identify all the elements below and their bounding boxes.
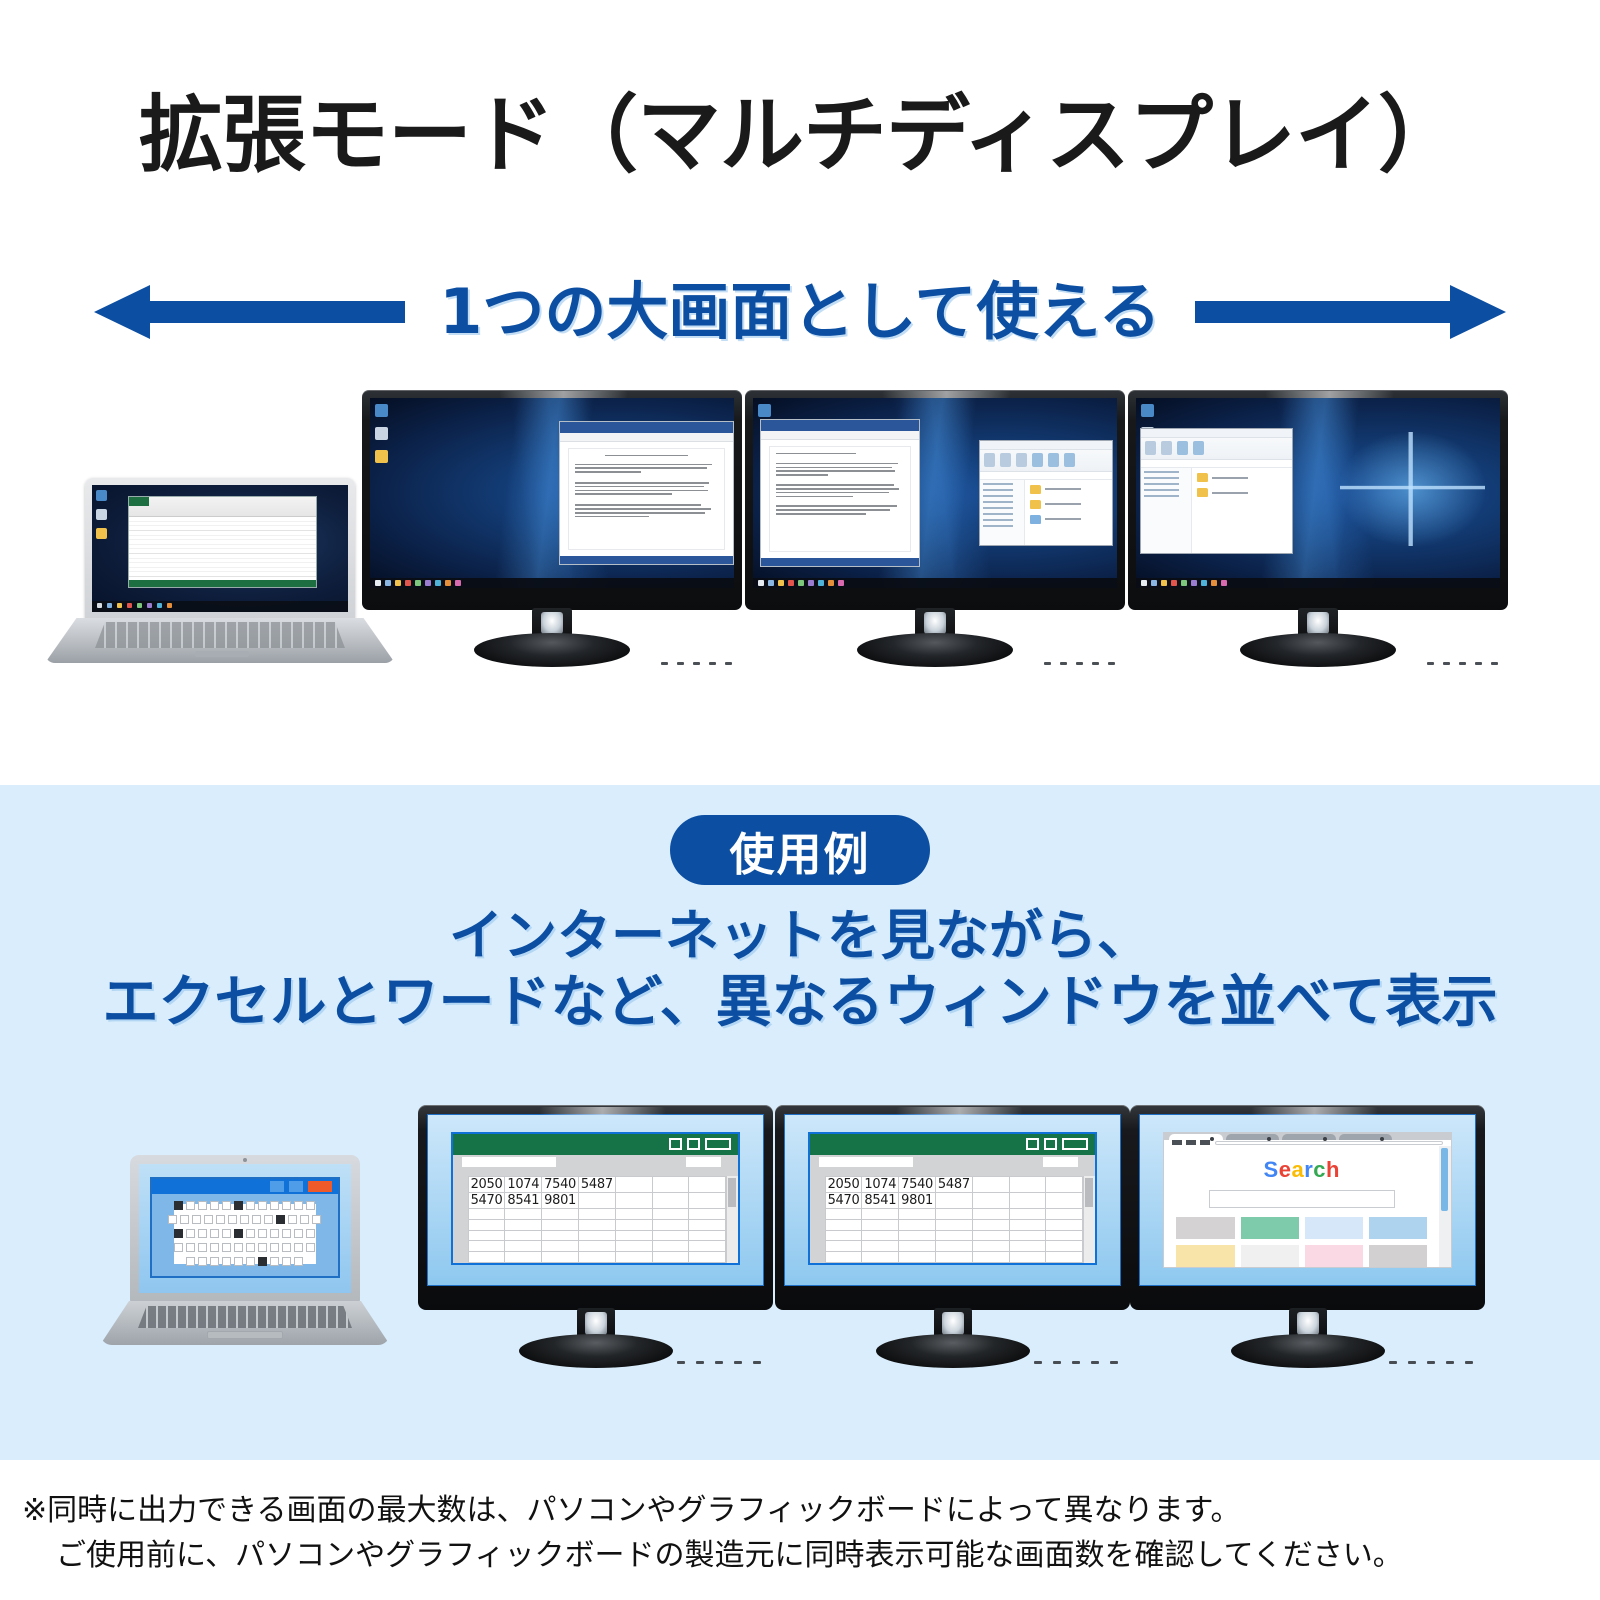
word-ribbon-tabs	[560, 433, 733, 442]
table-cell[interactable]	[578, 1209, 615, 1220]
spreadsheet-toolbar	[453, 1155, 737, 1177]
monitor-stand-base	[876, 1334, 1030, 1368]
spreadsheet-grid-wrap: 2050107475405487547085419801	[453, 1176, 737, 1262]
row-headers	[810, 1176, 824, 1262]
table-cell[interactable]	[972, 1209, 1009, 1220]
usage-line-2: エクセルとワードなど、異なるウィンドウを並べて表示	[0, 969, 1600, 1037]
monitor-1-word	[362, 390, 742, 670]
table-cell[interactable]	[825, 1241, 862, 1252]
table-cell[interactable]: 8541	[862, 1193, 899, 1209]
search-page: Search	[1164, 1146, 1439, 1267]
table-cell[interactable]	[825, 1209, 862, 1220]
monitor-control-buttons[interactable]	[1389, 1361, 1473, 1364]
laptop-base	[45, 618, 395, 663]
monitor-3-screen	[1136, 398, 1500, 588]
table-cell[interactable]	[935, 1209, 972, 1220]
toolbar-field[interactable]	[686, 1157, 720, 1167]
laptop-base	[100, 1301, 390, 1345]
footnote-line-1: ※同時に出力できる画面の最大数は、パソコンやグラフィックボードによって異なります…	[22, 1488, 1578, 1533]
table-body: 2050107475405487547085419801	[468, 1177, 726, 1262]
spreadsheet-window: 2050107475405487547085419801	[451, 1132, 739, 1265]
monitor-control-buttons[interactable]	[1427, 662, 1498, 665]
table-cell[interactable]: 5487	[578, 1177, 615, 1193]
table-cell[interactable]	[899, 1230, 936, 1241]
toolbar-field[interactable]	[1043, 1157, 1077, 1167]
table-row[interactable]	[468, 1251, 726, 1262]
spreadsheet-toolbar	[810, 1155, 1094, 1177]
table-cell[interactable]	[468, 1209, 505, 1220]
spreadsheet-titlebar	[453, 1134, 737, 1155]
thumbnail-tile[interactable]	[1241, 1245, 1299, 1267]
realistic-device-row	[0, 390, 1600, 690]
table-cell[interactable]	[899, 1220, 936, 1231]
table-row[interactable]	[468, 1220, 726, 1231]
window-titlebar	[152, 1179, 339, 1194]
table-cell[interactable]	[862, 1251, 899, 1262]
word-titlebar	[560, 422, 733, 433]
table-cell[interactable]	[1009, 1209, 1046, 1220]
monitor-3-bezel	[1128, 390, 1508, 610]
maximize-icon[interactable]	[687, 1138, 700, 1150]
search-logo-letter: r	[1304, 1157, 1313, 1182]
table-cell[interactable]	[899, 1251, 936, 1262]
thumbnail-tile[interactable]	[1305, 1217, 1363, 1239]
table-row[interactable]	[468, 1209, 726, 1220]
table-cell[interactable]	[652, 1230, 689, 1241]
table-cell[interactable]	[825, 1220, 862, 1231]
monitor-stand-base	[857, 633, 1013, 667]
table-cell[interactable]	[1046, 1177, 1083, 1193]
table-cell[interactable]	[578, 1220, 615, 1231]
explorer-titlebar	[1141, 429, 1292, 438]
thumbnail-grid	[1176, 1217, 1427, 1267]
table-cell[interactable]	[505, 1230, 542, 1241]
monitor-2-bezel	[745, 390, 1125, 610]
table-cell[interactable]	[862, 1209, 899, 1220]
taskbar	[753, 578, 1117, 588]
minimize-icon[interactable]	[669, 1138, 682, 1150]
word-text-lines	[776, 453, 904, 515]
monitor-spreadsheet-2: 2050107475405487547085419801	[775, 1105, 1130, 1370]
formula-bar[interactable]	[462, 1157, 556, 1167]
table-cell[interactable]	[505, 1241, 542, 1252]
table-cell[interactable]: 1074	[505, 1177, 542, 1193]
document-text-grid	[182, 1212, 308, 1256]
close-icon[interactable]	[308, 1181, 332, 1192]
taskbar	[370, 578, 734, 588]
table-cell[interactable]	[935, 1193, 972, 1209]
taskbar	[92, 601, 348, 612]
explorer-ribbon	[980, 450, 1113, 472]
monitor-bezel: 2050107475405487547085419801	[418, 1105, 773, 1310]
table-cell[interactable]	[689, 1177, 726, 1193]
laptop-keyboard	[95, 622, 345, 648]
browser-tab-strip[interactable]	[1164, 1133, 1450, 1140]
browser-body: Search	[1164, 1146, 1450, 1267]
excel-window	[128, 496, 317, 587]
search-logo-letter: c	[1313, 1157, 1326, 1182]
table-cell[interactable]	[825, 1251, 862, 1262]
table-cell[interactable]	[1009, 1251, 1046, 1262]
table-cell[interactable]	[689, 1220, 726, 1231]
wide-screen-banner: 1つの大画面として使える	[0, 262, 1600, 362]
maximize-icon[interactable]	[1044, 1138, 1057, 1150]
table-cell[interactable]	[542, 1241, 579, 1252]
list-item	[1197, 473, 1287, 482]
laptop-excel	[45, 478, 395, 663]
monitor-screen: 2050107475405487547085419801	[427, 1114, 764, 1286]
monitor-stand-base	[474, 633, 630, 667]
table-cell[interactable]	[652, 1220, 689, 1231]
table-cell[interactable]	[1046, 1209, 1083, 1220]
desktop-icons	[96, 490, 107, 539]
table-cell[interactable]	[615, 1209, 652, 1220]
word-body	[560, 442, 733, 556]
extended-mode-section: 拡張モード（マルチディスプレイ） 1つの大画面として使える	[0, 0, 1600, 785]
monitor-screen: 2050107475405487547085419801	[784, 1114, 1121, 1286]
document-window	[150, 1177, 341, 1278]
table-cell[interactable]: 5470	[825, 1193, 862, 1209]
monitor-stand-base	[1240, 633, 1396, 667]
table-cell[interactable]	[578, 1251, 615, 1262]
thumbnail-tile[interactable]	[1369, 1217, 1427, 1239]
table-cell[interactable]	[468, 1230, 505, 1241]
table-cell[interactable]: 7540	[542, 1177, 579, 1193]
monitor-bezel: 2050107475405487547085419801	[775, 1105, 1130, 1310]
taskbar	[1136, 578, 1500, 588]
table-cell[interactable]	[1009, 1177, 1046, 1193]
page-title: 拡張モード（マルチディスプレイ）	[0, 68, 1600, 189]
laptop-screen	[92, 485, 348, 612]
table-cell[interactable]	[468, 1241, 505, 1252]
table-row[interactable]: 2050107475405487	[825, 1177, 1083, 1193]
search-logo-letter: h	[1326, 1157, 1340, 1182]
word-body	[761, 440, 919, 558]
table-cell[interactable]: 9801	[899, 1193, 936, 1209]
browser-window: Search	[1163, 1132, 1451, 1268]
table-cell[interactable]	[652, 1209, 689, 1220]
monitor-screen: Search	[1139, 1114, 1476, 1286]
table-cell[interactable]	[652, 1193, 689, 1209]
word-page	[569, 449, 724, 549]
word-status-bar	[761, 558, 919, 566]
table-cell[interactable]	[1009, 1230, 1046, 1241]
table-cell[interactable]: 9801	[542, 1193, 579, 1209]
row-headers	[453, 1176, 467, 1262]
table-cell[interactable]	[689, 1241, 726, 1252]
table-cell[interactable]	[972, 1230, 1009, 1241]
table-cell[interactable]: 7540	[899, 1177, 936, 1193]
explorer-main	[1141, 468, 1292, 552]
usage-example-badge: 使用例	[670, 815, 930, 885]
table-cell[interactable]	[578, 1193, 615, 1209]
minimize-icon[interactable]	[270, 1181, 284, 1192]
laptop-lid	[85, 478, 355, 621]
table-cell[interactable]	[578, 1241, 615, 1252]
flat-device-row: 2050107475405487547085419801	[0, 1095, 1600, 1385]
table-cell[interactable]: 8541	[505, 1193, 542, 1209]
monitor-1-bezel	[362, 390, 742, 610]
table-cell[interactable]	[935, 1220, 972, 1231]
table-cell[interactable]	[1046, 1193, 1083, 1209]
explorer-sidebar[interactable]	[1141, 468, 1192, 552]
search-input[interactable]	[1209, 1190, 1394, 1208]
vertical-scrollbar[interactable]	[726, 1176, 737, 1262]
search-logo-letter: e	[1279, 1157, 1292, 1182]
laptop-keyboard[interactable]	[138, 1306, 352, 1328]
table-cell[interactable]	[972, 1177, 1009, 1193]
explorer-ribbon	[1141, 438, 1292, 460]
table-cell[interactable]	[578, 1230, 615, 1241]
spreadsheet-window: 2050107475405487547085419801	[808, 1132, 1096, 1265]
explorer-main	[980, 480, 1113, 545]
spreadsheet-titlebar	[810, 1134, 1094, 1155]
monitor-spreadsheet-1: 2050107475405487547085419801	[418, 1105, 773, 1370]
table-row[interactable]	[825, 1220, 1083, 1231]
desktop-icons	[758, 404, 771, 417]
excel-status-bar	[129, 580, 316, 587]
monitor-control-buttons[interactable]	[1044, 662, 1115, 665]
monitor-control-buttons[interactable]	[1034, 1361, 1118, 1364]
word-page	[770, 447, 910, 551]
browser-tab[interactable]	[1339, 1134, 1392, 1140]
thumbnail-tile[interactable]	[1176, 1245, 1234, 1267]
table-cell[interactable]	[615, 1251, 652, 1262]
explorer-address-bar[interactable]	[980, 472, 1113, 480]
table-cell[interactable]	[652, 1177, 689, 1193]
laptop-trackpad[interactable]	[207, 1331, 283, 1339]
table-body: 2050107475405487547085419801	[825, 1177, 1083, 1262]
table-cell[interactable]	[542, 1251, 579, 1262]
table-cell[interactable]: 2050	[468, 1177, 505, 1193]
monitor-stand-base	[1231, 1334, 1385, 1368]
table-cell[interactable]	[972, 1241, 1009, 1252]
table-cell[interactable]	[505, 1209, 542, 1220]
table-cell[interactable]	[899, 1241, 936, 1252]
explorer-address-bar[interactable]	[1141, 460, 1292, 468]
explorer-sidebar[interactable]	[980, 480, 1025, 545]
file-explorer-window	[1140, 428, 1293, 553]
monitor-1-screen	[370, 398, 734, 588]
document-page	[174, 1204, 316, 1264]
formula-bar[interactable]	[819, 1157, 913, 1167]
list-item	[1030, 485, 1108, 494]
spreadsheet-grid-wrap: 2050107475405487547085419801	[810, 1176, 1094, 1262]
list-item	[1030, 500, 1108, 509]
table-row[interactable]: 2050107475405487	[468, 1177, 726, 1193]
excel-grid	[129, 517, 316, 580]
table-cell[interactable]	[935, 1251, 972, 1262]
monitor-stand-base	[519, 1334, 673, 1368]
table-cell[interactable]	[972, 1193, 1009, 1209]
table-cell[interactable]	[1046, 1220, 1083, 1231]
table-cell[interactable]	[1046, 1251, 1083, 1262]
table-row[interactable]	[825, 1209, 1083, 1220]
table-cell[interactable]	[862, 1230, 899, 1241]
table-cell[interactable]	[615, 1177, 652, 1193]
explorer-file-list[interactable]	[1025, 480, 1113, 545]
laptop-screen	[139, 1164, 351, 1293]
windows-logo-wallpaper	[1340, 432, 1486, 546]
word-status-bar	[560, 556, 733, 564]
thumbnail-tile[interactable]	[1176, 1217, 1234, 1239]
word-text-lines	[575, 455, 718, 518]
table-row[interactable]	[825, 1251, 1083, 1262]
table-cell[interactable]	[1009, 1220, 1046, 1231]
table-cell[interactable]	[505, 1251, 542, 1262]
table-cell[interactable]	[935, 1241, 972, 1252]
table-cell[interactable]	[689, 1251, 726, 1262]
table-cell[interactable]	[689, 1209, 726, 1220]
browser-tab[interactable]	[1226, 1134, 1279, 1140]
table-row[interactable]: 547085419801	[468, 1193, 726, 1209]
excel-ribbon	[129, 497, 316, 517]
browser-tab-active[interactable]	[1169, 1134, 1222, 1140]
arrow-right-icon	[1195, 301, 1450, 323]
arrow-left-icon	[150, 301, 405, 323]
file-explorer-window	[979, 440, 1114, 546]
table-cell[interactable]	[652, 1251, 689, 1262]
close-icon[interactable]	[705, 1138, 731, 1150]
monitor-control-buttons[interactable]	[661, 662, 732, 665]
table-cell[interactable]	[825, 1230, 862, 1241]
list-item	[1030, 515, 1108, 524]
table-cell[interactable]	[652, 1241, 689, 1252]
thumbnail-tile[interactable]	[1241, 1217, 1299, 1239]
table-cell[interactable]	[1046, 1230, 1083, 1241]
table-row[interactable]	[468, 1230, 726, 1241]
search-logo: Search	[1176, 1157, 1427, 1183]
word-window	[559, 421, 734, 565]
table-cell[interactable]	[615, 1193, 652, 1209]
laptop-illustration	[100, 1155, 390, 1345]
monitor-bezel: Search	[1130, 1105, 1485, 1310]
footnote-line-2: ご使用前に、パソコンやグラフィックボードの製造元に同時表示可能な画面数を確認して…	[22, 1533, 1578, 1578]
desktop-icons	[375, 404, 388, 463]
laptop-trackpad	[195, 651, 249, 657]
table-cell[interactable]	[935, 1230, 972, 1241]
table-row[interactable]	[825, 1230, 1083, 1241]
table-cell[interactable]	[689, 1230, 726, 1241]
search-logo-letter: S	[1264, 1157, 1279, 1182]
minimize-icon[interactable]	[1026, 1138, 1039, 1150]
table-cell[interactable]	[899, 1209, 936, 1220]
word-titlebar	[761, 420, 919, 431]
word-ribbon-tabs	[761, 431, 919, 440]
table-cell[interactable]	[1009, 1193, 1046, 1209]
search-logo-letter: a	[1291, 1157, 1304, 1182]
monitor-control-buttons[interactable]	[677, 1361, 761, 1364]
table-cell[interactable]	[615, 1230, 652, 1241]
table-cell[interactable]	[862, 1220, 899, 1231]
table-cell[interactable]	[542, 1230, 579, 1241]
monitor-browser: Search	[1130, 1105, 1485, 1370]
table-cell[interactable]: 1074	[862, 1177, 899, 1193]
table-row[interactable]: 547085419801	[825, 1193, 1083, 1209]
spreadsheet-table[interactable]: 2050107475405487547085419801	[825, 1176, 1084, 1262]
monitor-2-word-explorer	[745, 390, 1125, 670]
table-cell[interactable]	[615, 1220, 652, 1231]
table-cell[interactable]	[468, 1251, 505, 1262]
table-cell[interactable]	[468, 1220, 505, 1231]
usage-line-1: インターネットを見ながら、	[0, 903, 1600, 969]
explorer-titlebar	[980, 441, 1113, 450]
word-window	[760, 419, 920, 567]
footnote-area: ※同時に出力できる画面の最大数は、パソコンやグラフィックボードによって異なります…	[0, 1470, 1600, 1600]
table-cell[interactable]	[615, 1241, 652, 1252]
address-input[interactable]	[1215, 1141, 1442, 1145]
table-cell[interactable]	[862, 1241, 899, 1252]
table-row[interactable]	[468, 1241, 726, 1252]
table-cell[interactable]: 5470	[468, 1193, 505, 1209]
table-cell[interactable]: 2050	[825, 1177, 862, 1193]
maximize-icon[interactable]	[289, 1181, 303, 1192]
banner-text: 1つの大画面として使える	[439, 281, 1160, 343]
thumbnail-tile[interactable]	[1369, 1245, 1427, 1267]
explorer-file-list[interactable]	[1192, 468, 1292, 552]
nav-buttons[interactable]	[1172, 1140, 1210, 1145]
table-cell[interactable]	[542, 1220, 579, 1231]
spreadsheet-table[interactable]: 2050107475405487547085419801	[468, 1176, 727, 1262]
data-table: 2050107475405487547085419801	[825, 1176, 1084, 1262]
list-item	[1197, 488, 1287, 497]
monitor-3-explorer	[1128, 390, 1508, 670]
data-table: 2050107475405487547085419801	[468, 1176, 727, 1262]
table-cell[interactable]	[542, 1209, 579, 1220]
webcam-icon	[243, 1158, 247, 1162]
close-icon[interactable]	[1062, 1138, 1088, 1150]
table-cell[interactable]	[972, 1251, 1009, 1262]
table-cell[interactable]	[1046, 1241, 1083, 1252]
thumbnail-tile[interactable]	[1305, 1245, 1363, 1267]
table-cell[interactable]	[972, 1220, 1009, 1231]
usage-description: インターネットを見ながら、 エクセルとワードなど、異なるウィンドウを並べて表示	[0, 903, 1600, 1037]
monitor-2-screen	[753, 398, 1117, 588]
vertical-scrollbar[interactable]	[1083, 1176, 1094, 1262]
table-cell[interactable]	[689, 1193, 726, 1209]
table-cell[interactable]	[505, 1220, 542, 1231]
table-row[interactable]	[825, 1241, 1083, 1252]
vertical-scrollbar[interactable]	[1439, 1146, 1450, 1267]
laptop-lid	[130, 1155, 360, 1303]
table-cell[interactable]	[1009, 1241, 1046, 1252]
browser-tab[interactable]	[1282, 1134, 1335, 1140]
table-cell[interactable]: 5487	[935, 1177, 972, 1193]
